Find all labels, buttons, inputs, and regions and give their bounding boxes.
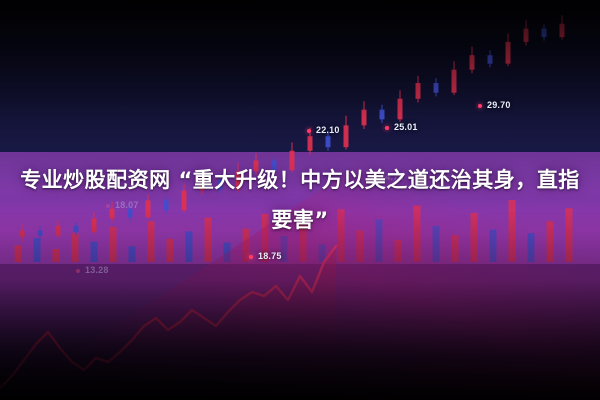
background-top-vignette xyxy=(0,0,600,120)
banner-image: 18.0713.2822.1024.7625.0118.7529.70 专业炒股… xyxy=(0,0,600,400)
headline-text: 专业炒股配资网 “重大升级！中方以美之道还治其身，直指要害” xyxy=(0,160,600,240)
